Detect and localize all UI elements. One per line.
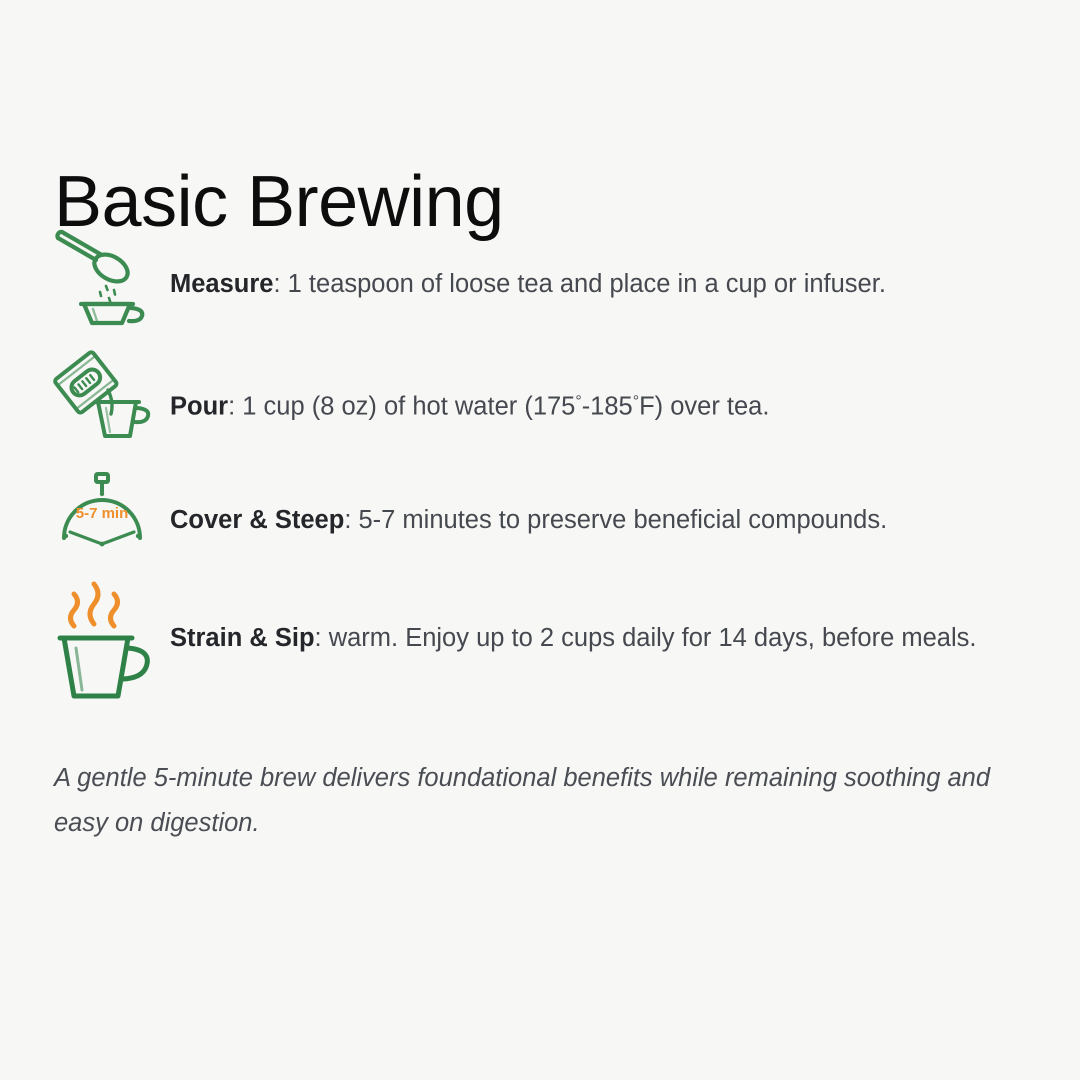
step-description: Pour: 1 cup (8 oz) of hot water (175°-18… [170,382,1080,427]
step-separator: : [273,270,287,298]
list-item: Measure: 1 teaspoon of loose tea and pla… [0,222,1080,340]
step-body-before-temp: 1 cup (8 oz) of hot water (175 [242,393,575,421]
step-label: Cover & Steep [170,506,344,534]
brewing-steps-list: Measure: 1 teaspoon of loose tea and pla… [0,222,1080,716]
step-body: 1 teaspoon of loose tea and place in a c… [288,270,886,298]
step-body-after-temp: F) over tea. [639,393,769,421]
list-item: Pour: 1 cup (8 oz) of hot water (175°-18… [0,340,1080,458]
summary-note: A gentle 5-minute brew delivers foundati… [54,756,1004,846]
step-label: Measure [170,270,273,298]
spoon-into-cup-icon [42,224,162,328]
step-label: Pour [170,393,228,421]
list-item: Strain & Sip: warm. Enjoy up to 2 cups d… [0,576,1080,716]
steaming-mug-icon [42,580,162,704]
step-body: warm. Enjoy up to 2 cups daily for 14 da… [329,624,977,652]
step-body-mid: -185 [582,393,633,421]
step-separator: : [228,393,242,421]
step-body: 5-7 minutes to preserve beneficial compo… [358,506,887,534]
step-label: Strain & Sip [170,624,315,652]
step-description: Cover & Steep: 5-7 minutes to preserve b… [170,500,1080,540]
step-description: Measure: 1 teaspoon of loose tea and pla… [170,264,1080,304]
step-separator: : [315,624,329,652]
pouring-sachet-into-cup-icon [42,340,162,444]
list-item: 5-7 min Cover & Steep: 5-7 minutes to pr… [0,458,1080,576]
step-separator: : [344,506,358,534]
step-description: Strain & Sip: warm. Enjoy up to 2 cups d… [170,618,1080,658]
timer-icon: 5-7 min [42,468,162,554]
timer-icon-label: 5-7 min [76,505,129,522]
brewing-instructions-card: Basic Brewing [0,0,1080,1080]
